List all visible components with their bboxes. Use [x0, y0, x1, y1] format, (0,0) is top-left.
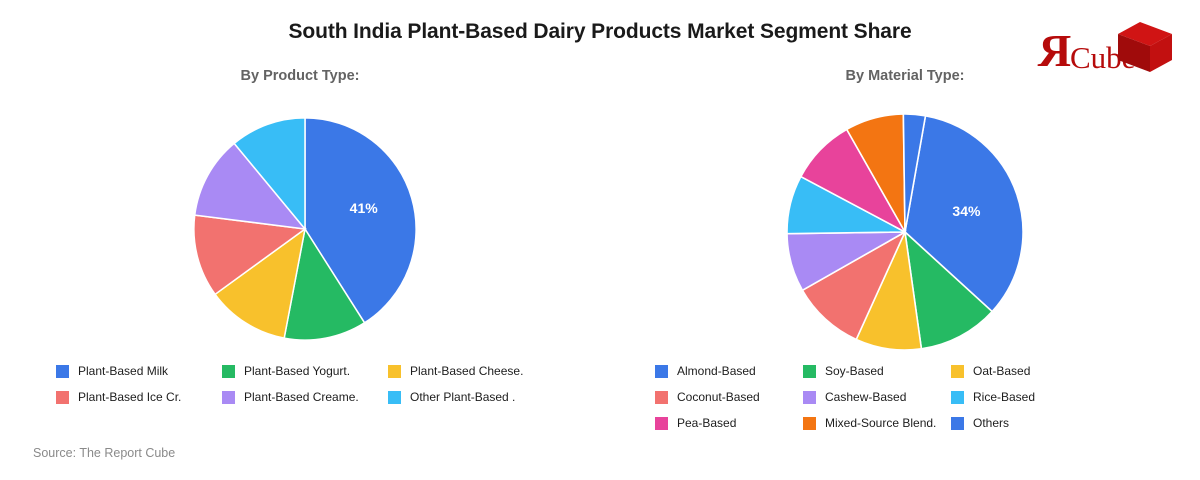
legend-item[interactable]: Pea-Based — [655, 410, 803, 436]
legend-label: Plant-Based Milk — [78, 364, 168, 378]
legend-product-type: Plant-Based MilkPlant-Based Yogurt.Plant… — [56, 358, 556, 410]
legend-item[interactable]: Oat-Based — [951, 358, 1099, 384]
legend-swatch-icon — [803, 365, 816, 378]
pie-svg-material-type[interactable] — [785, 112, 1025, 352]
pie-svg-product-type[interactable] — [192, 112, 418, 346]
left-panel-subtitle: By Product Type: — [140, 68, 460, 84]
legend-swatch-icon — [388, 391, 401, 404]
chart-page: South India Plant-Based Dairy Products M… — [0, 0, 1200, 480]
legend-item[interactable]: Other Plant-Based . — [388, 384, 554, 410]
pie-chart-product-type[interactable]: 41% — [192, 112, 418, 346]
legend-item[interactable]: Plant-Based Cheese. — [388, 358, 554, 384]
legend-label: Cashew-Based — [825, 390, 906, 404]
legend-swatch-icon — [951, 417, 964, 430]
legend-item[interactable]: Almond-Based — [655, 358, 803, 384]
legend-swatch-icon — [655, 365, 668, 378]
legend-material-type: Almond-BasedSoy-BasedOat-BasedCoconut-Ba… — [655, 358, 1105, 436]
page-title: South India Plant-Based Dairy Products M… — [0, 20, 1200, 44]
source-note: Source: The Report Cube — [33, 446, 175, 460]
legend-label: Plant-Based Cheese. — [410, 364, 523, 378]
legend-swatch-icon — [803, 417, 816, 430]
cube-icon — [1116, 20, 1174, 74]
legend-swatch-icon — [222, 365, 235, 378]
legend-swatch-icon — [222, 391, 235, 404]
legend-item[interactable]: Plant-Based Milk — [56, 358, 222, 384]
legend-swatch-icon — [655, 417, 668, 430]
legend-label: Almond-Based — [677, 364, 756, 378]
legend-swatch-icon — [803, 391, 816, 404]
legend-item[interactable]: Rice-Based — [951, 384, 1099, 410]
legend-label: Plant-Based Creame. — [244, 390, 359, 404]
legend-label: Others — [973, 416, 1009, 430]
legend-label: Pea-Based — [677, 416, 736, 430]
legend-swatch-icon — [655, 391, 668, 404]
legend-label: Oat-Based — [973, 364, 1030, 378]
legend-item[interactable]: Plant-Based Creame. — [222, 384, 388, 410]
legend-label: Coconut-Based — [677, 390, 760, 404]
legend-swatch-icon — [951, 391, 964, 404]
legend-item[interactable]: Coconut-Based — [655, 384, 803, 410]
legend-label: Plant-Based Ice Cr. — [78, 390, 181, 404]
legend-swatch-icon — [56, 365, 69, 378]
legend-item[interactable]: Mixed-Source Blend. — [803, 410, 951, 436]
legend-label: Soy-Based — [825, 364, 884, 378]
legend-item[interactable]: Plant-Based Ice Cr. — [56, 384, 222, 410]
legend-item[interactable]: Cashew-Based — [803, 384, 951, 410]
legend-label: Plant-Based Yogurt. — [244, 364, 350, 378]
legend-swatch-icon — [951, 365, 964, 378]
legend-item[interactable]: Others — [951, 410, 1099, 436]
legend-item[interactable]: Plant-Based Yogurt. — [222, 358, 388, 384]
legend-label: Mixed-Source Blend. — [825, 416, 936, 430]
legend-label: Other Plant-Based . — [410, 390, 515, 404]
legend-item[interactable]: Soy-Based — [803, 358, 951, 384]
legend-label: Rice-Based — [973, 390, 1035, 404]
right-panel-subtitle: By Material Type: — [745, 68, 1065, 84]
legend-swatch-icon — [388, 365, 401, 378]
pie-chart-material-type[interactable]: 34% — [785, 112, 1025, 352]
legend-swatch-icon — [56, 391, 69, 404]
